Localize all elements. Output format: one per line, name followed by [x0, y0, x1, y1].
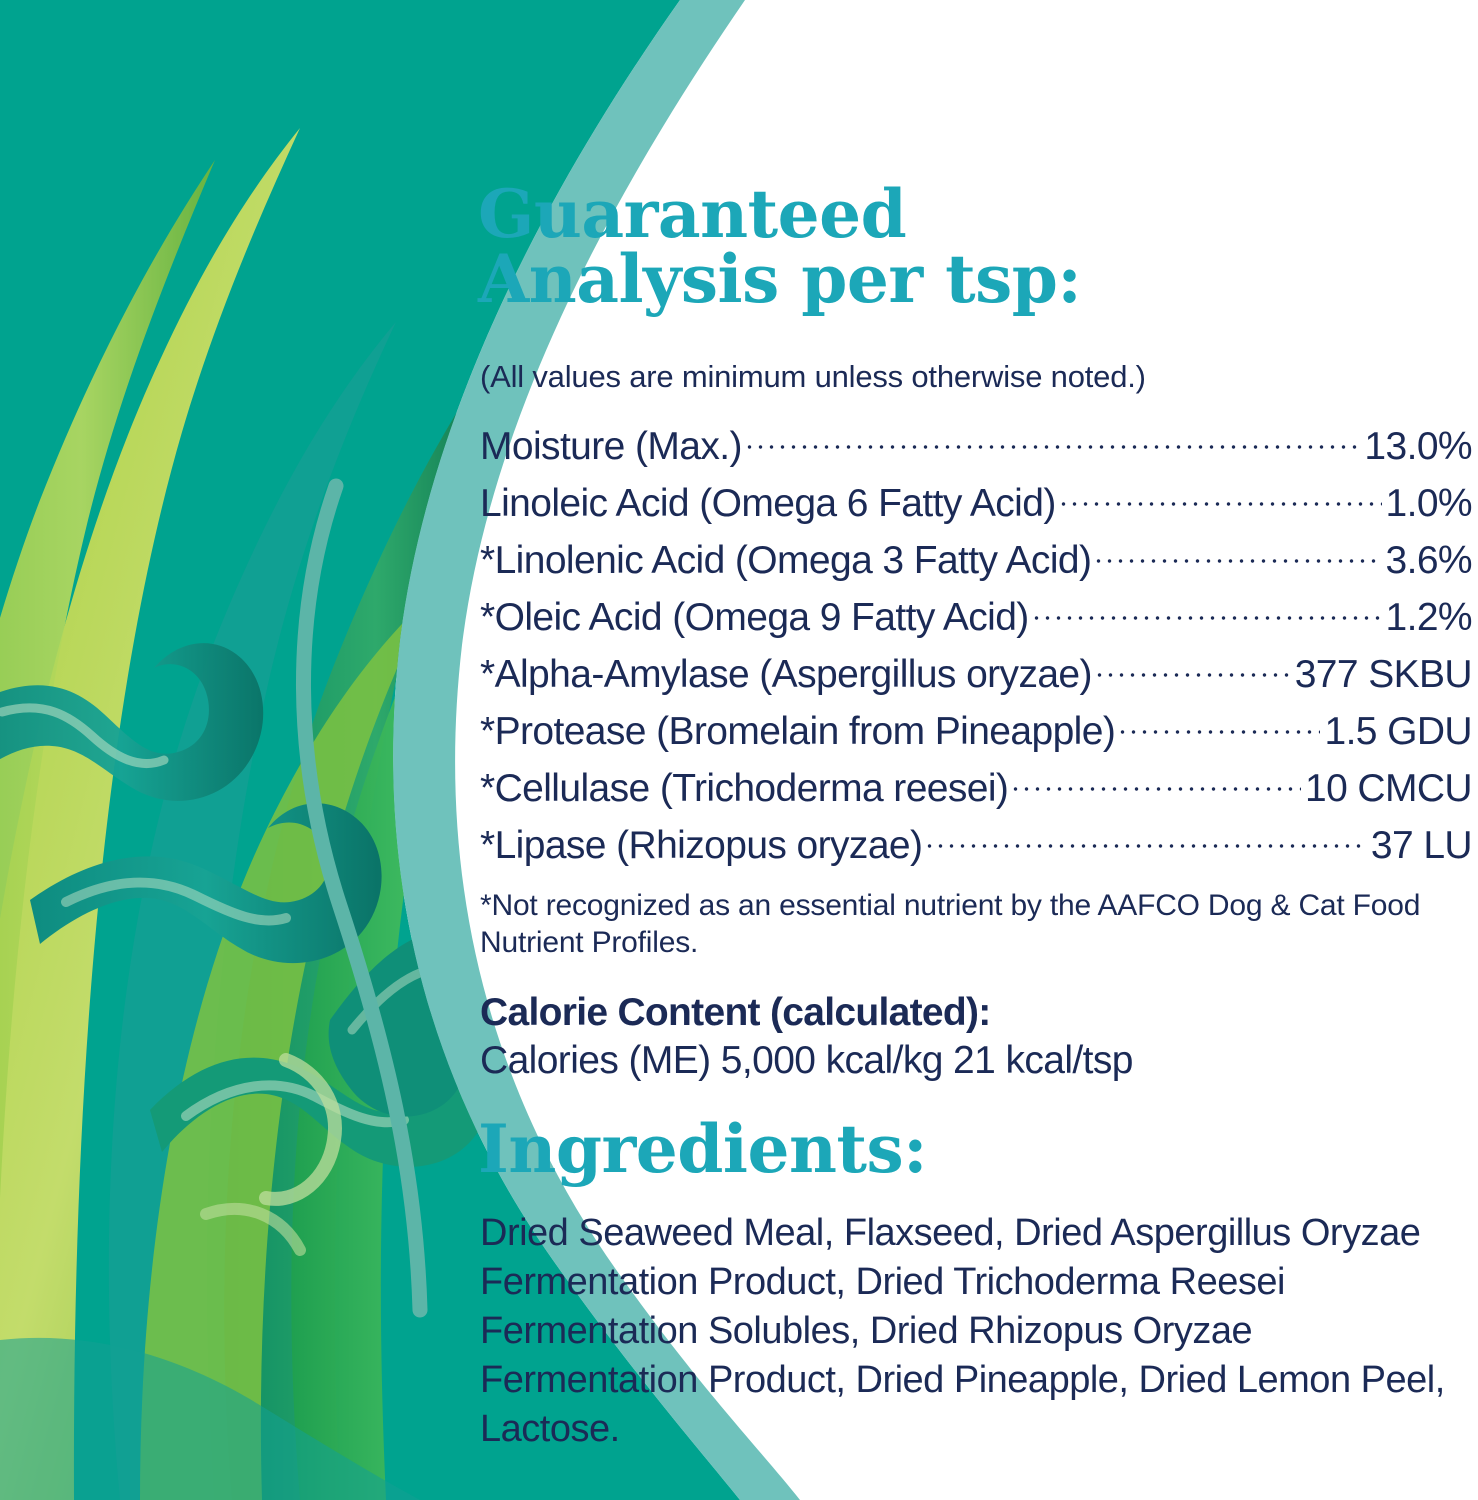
label-text-content: Guaranteed Analysis per tsp: (All values… — [478, 0, 1478, 1500]
analysis-row: Moisture (Max.) 13.0% — [480, 420, 1472, 477]
guaranteed-analysis-table: Moisture (Max.) 13.0% Linoleic Acid (Ome… — [480, 420, 1472, 876]
analysis-value: 10 CMCU — [1305, 767, 1472, 811]
ingredients-title: Ingredients: — [478, 1110, 927, 1188]
analysis-row: *Lipase (Rhizopus oryzae) 37 LU — [480, 819, 1472, 876]
dot-leader — [1094, 648, 1291, 687]
analysis-label: *Alpha-Amylase (Aspergillus oryzae) — [480, 653, 1092, 697]
analysis-value: 377 SKBU — [1295, 653, 1472, 697]
analysis-value: 3.6% — [1386, 539, 1473, 583]
analysis-label: Moisture (Max.) — [480, 425, 742, 469]
analysis-row: *Oleic Acid (Omega 9 Fatty Acid) 1.2% — [480, 591, 1472, 648]
analysis-label: *Oleic Acid (Omega 9 Fatty Acid) — [480, 596, 1029, 640]
dot-leader — [1010, 762, 1301, 801]
analysis-label: *Cellulase (Trichoderma reesei) — [480, 767, 1008, 811]
analysis-value: 37 LU — [1371, 824, 1472, 868]
analysis-value: 1.2% — [1386, 596, 1473, 640]
analysis-row: *Linolenic Acid (Omega 3 Fatty Acid) 3.6… — [480, 534, 1472, 591]
analysis-label: Linoleic Acid (Omega 6 Fatty Acid) — [480, 482, 1056, 526]
dot-leader — [744, 420, 1361, 459]
ingredients-body: Dried Seaweed Meal, Flaxseed, Dried Aspe… — [480, 1209, 1460, 1454]
dot-leader — [1093, 534, 1381, 573]
dot-leader — [1117, 705, 1320, 744]
analysis-label: *Protease (Bromelain from Pineapple) — [480, 710, 1115, 754]
calorie-content-heading: Calorie Content (calculated): — [480, 991, 991, 1035]
dot-leader — [1058, 477, 1382, 516]
analysis-row: Linoleic Acid (Omega 6 Fatty Acid) 1.0% — [480, 477, 1472, 534]
analysis-label: *Lipase (Rhizopus oryzae) — [480, 824, 922, 868]
analysis-value: 1.0% — [1386, 482, 1473, 526]
guaranteed-analysis-note: (All values are minimum unless otherwise… — [480, 359, 1146, 395]
guaranteed-analysis-title: Guaranteed Analysis per tsp: — [478, 182, 1238, 311]
analysis-row: *Cellulase (Trichoderma reesei) 10 CMCU — [480, 762, 1472, 819]
aafco-footnote: *Not recognized as an essential nutrient… — [480, 888, 1440, 961]
analysis-label: *Linolenic Acid (Omega 3 Fatty Acid) — [480, 539, 1091, 583]
calorie-content-body: Calories (ME) 5,000 kcal/kg 21 kcal/tsp — [480, 1039, 1133, 1083]
analysis-value: 13.0% — [1364, 425, 1472, 469]
analysis-value: 1.5 GDU — [1324, 710, 1472, 754]
dot-leader — [1031, 591, 1382, 630]
dot-leader — [924, 819, 1367, 858]
analysis-row: *Protease (Bromelain from Pineapple) 1.5… — [480, 705, 1472, 762]
analysis-row: *Alpha-Amylase (Aspergillus oryzae) 377 … — [480, 648, 1472, 705]
product-label-panel: Guaranteed Analysis per tsp: (All values… — [0, 0, 1478, 1500]
